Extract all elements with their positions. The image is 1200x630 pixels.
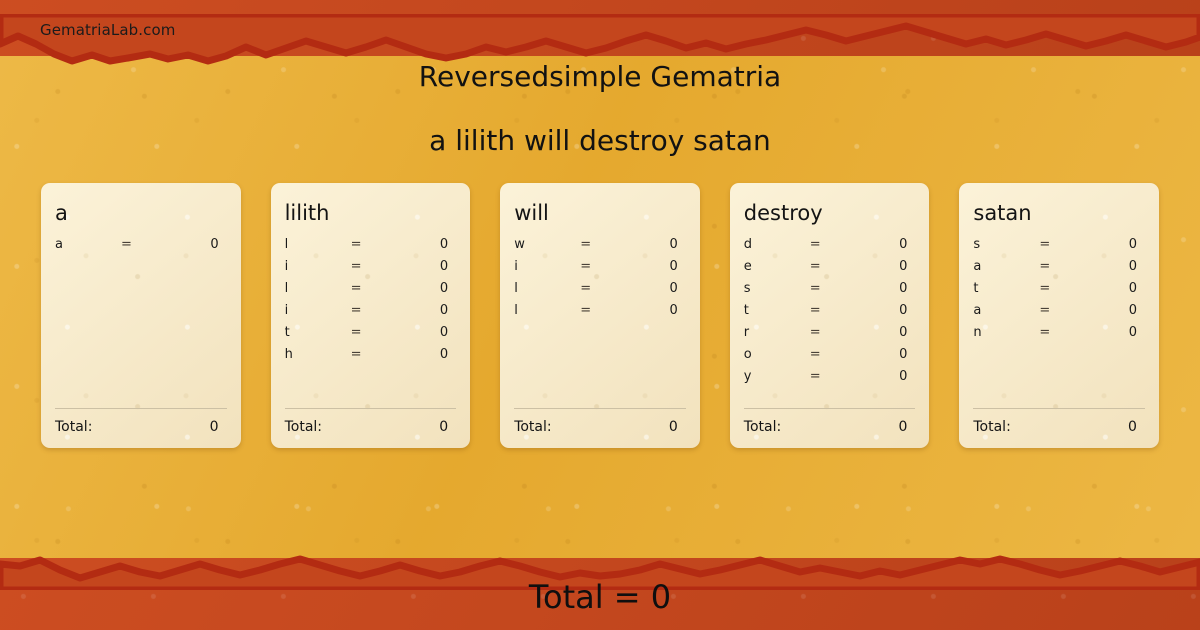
top-decorative-band xyxy=(0,0,1200,56)
word-card-footer: Total: 0 xyxy=(285,408,457,435)
letter-row: o = 0 xyxy=(744,347,916,369)
letter-value: 0 xyxy=(622,259,686,274)
letter-value: 0 xyxy=(393,281,457,296)
letter-label: a xyxy=(973,259,1039,274)
letter-row: w = 0 xyxy=(514,237,686,259)
letter-row: a = 0 xyxy=(973,259,1145,281)
equals-sign: = xyxy=(810,303,852,318)
equals-sign: = xyxy=(810,347,852,362)
equals-sign: = xyxy=(1039,281,1081,296)
grand-total: Total = 0 xyxy=(0,578,1200,616)
letter-label: i xyxy=(285,303,351,318)
letter-label: l xyxy=(285,237,351,252)
site-watermark: GematriaLab.com xyxy=(40,21,175,39)
letter-label: n xyxy=(973,325,1039,340)
letter-row: t = 0 xyxy=(973,281,1145,303)
letter-label: t xyxy=(285,325,351,340)
letter-row-list: a = 0 xyxy=(55,237,227,259)
word-card-list: a a = 0 Total: 0 lilith l xyxy=(41,183,1159,448)
equals-sign: = xyxy=(351,303,393,318)
letter-value: 0 xyxy=(622,281,686,296)
letter-value: 0 xyxy=(852,369,916,384)
letter-row: t = 0 xyxy=(285,325,457,347)
word-card: will w = 0 i = 0 l = 0 l xyxy=(500,183,700,448)
letter-value: 0 xyxy=(393,259,457,274)
letter-label: e xyxy=(744,259,810,274)
word-total-label: Total: xyxy=(973,419,1010,435)
phrase-subtitle: a lilith will destroy satan xyxy=(0,124,1200,157)
letter-row: r = 0 xyxy=(744,325,916,347)
equals-sign: = xyxy=(351,281,393,296)
letter-value: 0 xyxy=(393,325,457,340)
letter-row-list: w = 0 i = 0 l = 0 l = 0 xyxy=(514,237,686,325)
letter-value: 0 xyxy=(163,237,227,252)
letter-row: h = 0 xyxy=(285,347,457,369)
letter-row: l = 0 xyxy=(285,237,457,259)
letter-row: a = 0 xyxy=(973,303,1145,325)
letter-label: a xyxy=(973,303,1039,318)
letter-value: 0 xyxy=(1081,303,1145,318)
page-title: Reversedsimple Gematria xyxy=(0,60,1200,93)
equals-sign: = xyxy=(351,347,393,362)
letter-label: s xyxy=(973,237,1039,252)
letter-row: n = 0 xyxy=(973,325,1145,347)
equals-sign: = xyxy=(810,259,852,274)
letter-row: s = 0 xyxy=(744,281,916,303)
letter-label: h xyxy=(285,347,351,362)
word-total-line: Total: 0 xyxy=(55,419,227,435)
footer-divider xyxy=(55,408,227,409)
word-card: lilith l = 0 i = 0 l = 0 i xyxy=(271,183,471,448)
equals-sign: = xyxy=(1039,237,1081,252)
word-total-value: 0 xyxy=(1128,419,1145,435)
word-card-title: destroy xyxy=(744,200,916,226)
equals-sign: = xyxy=(810,325,852,340)
word-card-title: a xyxy=(55,200,227,226)
footer-divider xyxy=(744,408,916,409)
letter-value: 0 xyxy=(852,347,916,362)
letter-label: s xyxy=(744,281,810,296)
equals-sign: = xyxy=(121,237,163,252)
letter-label: t xyxy=(973,281,1039,296)
letter-label: d xyxy=(744,237,810,252)
word-total-value: 0 xyxy=(439,419,456,435)
letter-value: 0 xyxy=(393,303,457,318)
word-total-line: Total: 0 xyxy=(973,419,1145,435)
word-total-value: 0 xyxy=(669,419,686,435)
letter-row: d = 0 xyxy=(744,237,916,259)
letter-row: a = 0 xyxy=(55,237,227,259)
letter-value: 0 xyxy=(852,259,916,274)
word-card-footer: Total: 0 xyxy=(973,408,1145,435)
letter-label: a xyxy=(55,237,121,252)
equals-sign: = xyxy=(1039,325,1081,340)
equals-sign: = xyxy=(810,281,852,296)
letter-value: 0 xyxy=(393,347,457,362)
footer-divider xyxy=(514,408,686,409)
letter-label: l xyxy=(514,281,580,296)
letter-label: r xyxy=(744,325,810,340)
letter-value: 0 xyxy=(1081,237,1145,252)
letter-label: l xyxy=(285,281,351,296)
equals-sign: = xyxy=(580,303,622,318)
word-total-line: Total: 0 xyxy=(744,419,916,435)
letter-value: 0 xyxy=(622,237,686,252)
word-card-footer: Total: 0 xyxy=(514,408,686,435)
poster-canvas: GematriaLab.com Reversedsimple Gematria … xyxy=(0,0,1200,630)
letter-value: 0 xyxy=(852,303,916,318)
letter-label: y xyxy=(744,369,810,384)
equals-sign: = xyxy=(580,259,622,274)
letter-row: t = 0 xyxy=(744,303,916,325)
letter-row-list: l = 0 i = 0 l = 0 i = 0 xyxy=(285,237,457,369)
letter-row: i = 0 xyxy=(514,259,686,281)
letter-value: 0 xyxy=(1081,281,1145,296)
equals-sign: = xyxy=(810,369,852,384)
letter-label: i xyxy=(514,259,580,274)
letter-row: s = 0 xyxy=(973,237,1145,259)
word-total-label: Total: xyxy=(55,419,92,435)
footer-divider xyxy=(285,408,457,409)
word-card-footer: Total: 0 xyxy=(55,408,227,435)
word-total-line: Total: 0 xyxy=(514,419,686,435)
equals-sign: = xyxy=(351,259,393,274)
letter-label: o xyxy=(744,347,810,362)
letter-value: 0 xyxy=(852,325,916,340)
word-total-label: Total: xyxy=(514,419,551,435)
letter-value: 0 xyxy=(852,281,916,296)
letter-row: l = 0 xyxy=(514,303,686,325)
word-card-footer: Total: 0 xyxy=(744,408,916,435)
equals-sign: = xyxy=(1039,259,1081,274)
word-total-value: 0 xyxy=(210,419,227,435)
letter-row-list: s = 0 a = 0 t = 0 a = 0 xyxy=(973,237,1145,347)
word-card-title: will xyxy=(514,200,686,226)
letter-row: i = 0 xyxy=(285,303,457,325)
letter-row: e = 0 xyxy=(744,259,916,281)
letter-value: 0 xyxy=(622,303,686,318)
letter-value: 0 xyxy=(393,237,457,252)
letter-row: y = 0 xyxy=(744,369,916,391)
equals-sign: = xyxy=(810,237,852,252)
letter-label: w xyxy=(514,237,580,252)
word-card: destroy d = 0 e = 0 s = 0 t xyxy=(730,183,930,448)
word-total-label: Total: xyxy=(744,419,781,435)
letter-label: t xyxy=(744,303,810,318)
equals-sign: = xyxy=(351,325,393,340)
word-total-label: Total: xyxy=(285,419,322,435)
letter-row: i = 0 xyxy=(285,259,457,281)
letter-label: i xyxy=(285,259,351,274)
word-total-line: Total: 0 xyxy=(285,419,457,435)
letter-value: 0 xyxy=(1081,259,1145,274)
letter-value: 0 xyxy=(852,237,916,252)
letter-value: 0 xyxy=(1081,325,1145,340)
letter-row-list: d = 0 e = 0 s = 0 t = 0 xyxy=(744,237,916,391)
letter-row: l = 0 xyxy=(514,281,686,303)
footer-divider xyxy=(973,408,1145,409)
equals-sign: = xyxy=(580,237,622,252)
word-card-title: satan xyxy=(973,200,1145,226)
letter-label: l xyxy=(514,303,580,318)
equals-sign: = xyxy=(580,281,622,296)
word-card: satan s = 0 a = 0 t = 0 a xyxy=(959,183,1159,448)
word-total-value: 0 xyxy=(898,419,915,435)
word-card: a a = 0 Total: 0 xyxy=(41,183,241,448)
equals-sign: = xyxy=(1039,303,1081,318)
letter-row: l = 0 xyxy=(285,281,457,303)
equals-sign: = xyxy=(351,237,393,252)
word-card-title: lilith xyxy=(285,200,457,226)
